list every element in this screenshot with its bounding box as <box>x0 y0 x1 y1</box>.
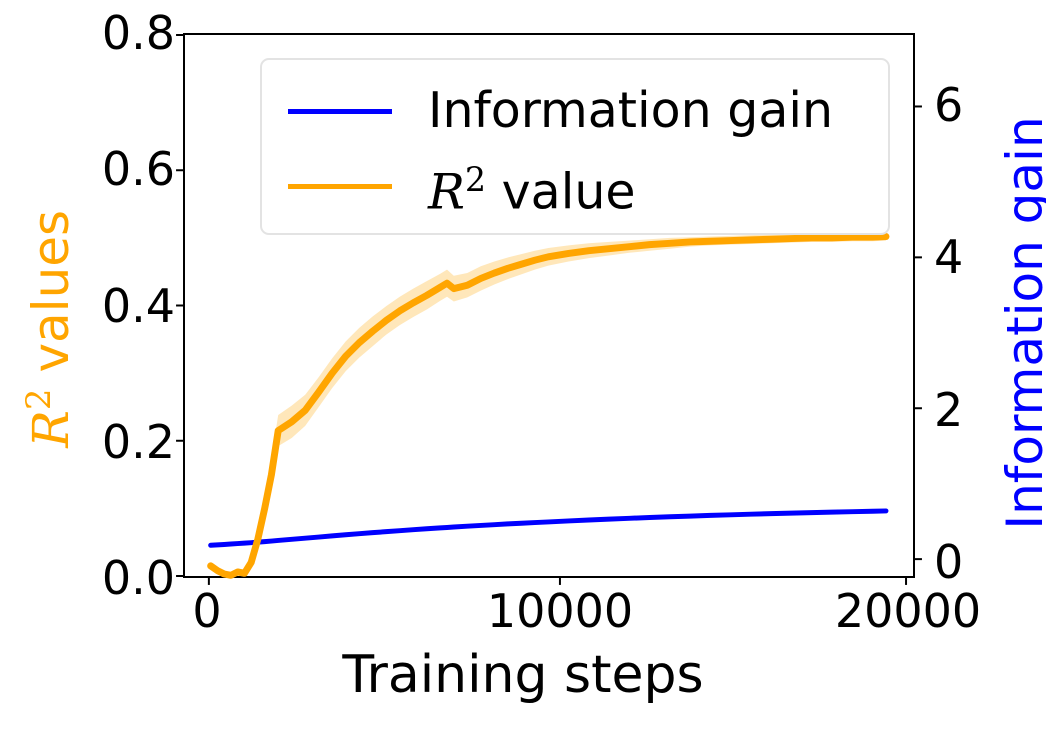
legend-entry-r2-value: R2 value <box>262 151 888 221</box>
y-right-tick-label: 2 <box>934 387 963 433</box>
y-left-label-suffix: values <box>22 210 80 389</box>
legend-swatch-information-gain <box>288 109 392 114</box>
x-tick-label: 10000 <box>440 588 680 634</box>
legend-entry-information-gain: Information gain <box>262 76 888 146</box>
legend-swatch-r2-value <box>288 184 392 189</box>
chart-legend: Information gain R2 value <box>260 58 890 235</box>
y-right-tick-label: 6 <box>934 82 963 128</box>
y-right-tick-label: 4 <box>934 234 963 280</box>
y-right-tick-label: 0 <box>934 539 963 585</box>
plot-area: Information gain R2 value <box>183 33 915 578</box>
legend-label-r2-value: R2 value <box>428 154 636 218</box>
y-axis-left-label: R2 values <box>11 69 79 589</box>
x-tick-label: 20000 <box>788 588 1028 634</box>
r2-value-line <box>211 237 886 576</box>
y-axis-right-label: Information gain <box>997 43 1046 603</box>
x-tick-label: 0 <box>137 588 277 634</box>
legend-label-information-gain: Information gain <box>428 85 833 137</box>
legend-r2-suffix: value <box>486 163 635 220</box>
legend-r2-superscript: 2 <box>465 160 486 199</box>
legend-r2-prefix: R <box>428 163 465 220</box>
y-left-label-prefix: R <box>22 410 80 448</box>
y-left-label-superscript: 2 <box>19 388 59 410</box>
information-gain-line <box>211 511 886 545</box>
y-left-tick-label: 0.8 <box>55 10 175 56</box>
x-axis-label: Training steps <box>0 645 1046 705</box>
chart-figure: 0.8 0.6 0.4 0.2 0.0 6 4 2 0 0 10000 2000… <box>0 0 1046 730</box>
